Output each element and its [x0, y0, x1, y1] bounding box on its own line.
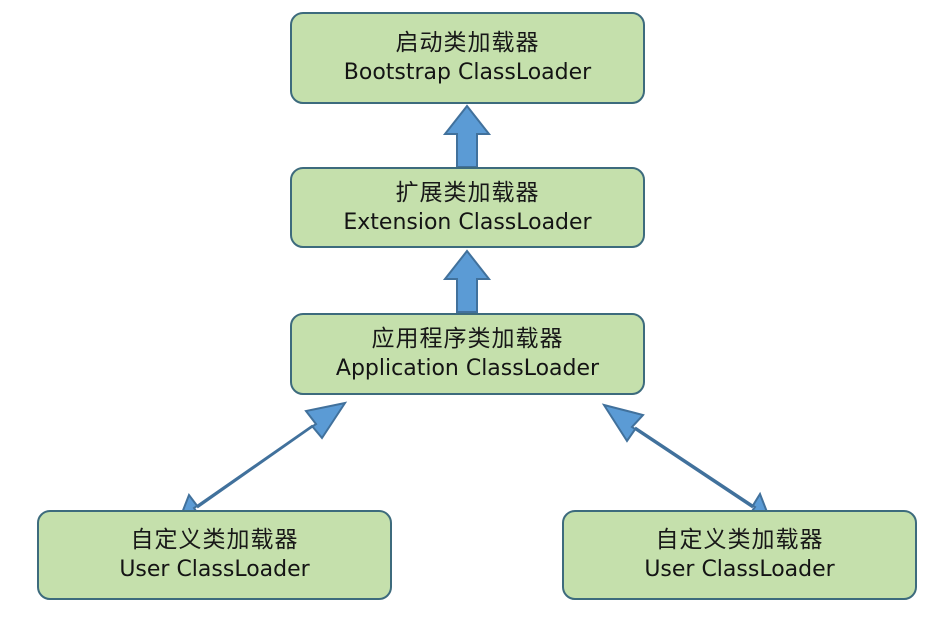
- arrow-user-right-to-application: [604, 405, 767, 518]
- node-user-classloader-right[interactable]: 自定义类加载器 User ClassLoader: [562, 510, 917, 600]
- node-user-right-label-cn: 自定义类加载器: [656, 525, 824, 555]
- node-extension-classloader[interactable]: 扩展类加载器 Extension ClassLoader: [290, 167, 645, 248]
- arrow-extension-to-bootstrap: [445, 106, 489, 167]
- node-user-left-label-en: User ClassLoader: [119, 555, 309, 585]
- arrow-user-left-to-application: [182, 403, 345, 520]
- classloader-hierarchy-diagram: 启动类加载器 Bootstrap ClassLoader 扩展类加载器 Exte…: [0, 0, 952, 628]
- node-user-left-label-cn: 自定义类加载器: [131, 525, 299, 555]
- node-bootstrap-classloader[interactable]: 启动类加载器 Bootstrap ClassLoader: [290, 12, 645, 104]
- node-bootstrap-label-en: Bootstrap ClassLoader: [344, 58, 591, 88]
- node-user-classloader-left[interactable]: 自定义类加载器 User ClassLoader: [37, 510, 392, 600]
- node-extension-label-en: Extension ClassLoader: [343, 208, 591, 238]
- node-user-right-label-en: User ClassLoader: [644, 555, 834, 585]
- node-bootstrap-label-cn: 启动类加载器: [396, 28, 540, 58]
- node-extension-label-cn: 扩展类加载器: [396, 178, 540, 208]
- node-application-label-en: Application ClassLoader: [336, 354, 599, 384]
- node-application-classloader[interactable]: 应用程序类加载器 Application ClassLoader: [290, 313, 645, 395]
- arrow-application-to-extension: [445, 251, 489, 312]
- node-application-label-cn: 应用程序类加载器: [372, 324, 564, 354]
